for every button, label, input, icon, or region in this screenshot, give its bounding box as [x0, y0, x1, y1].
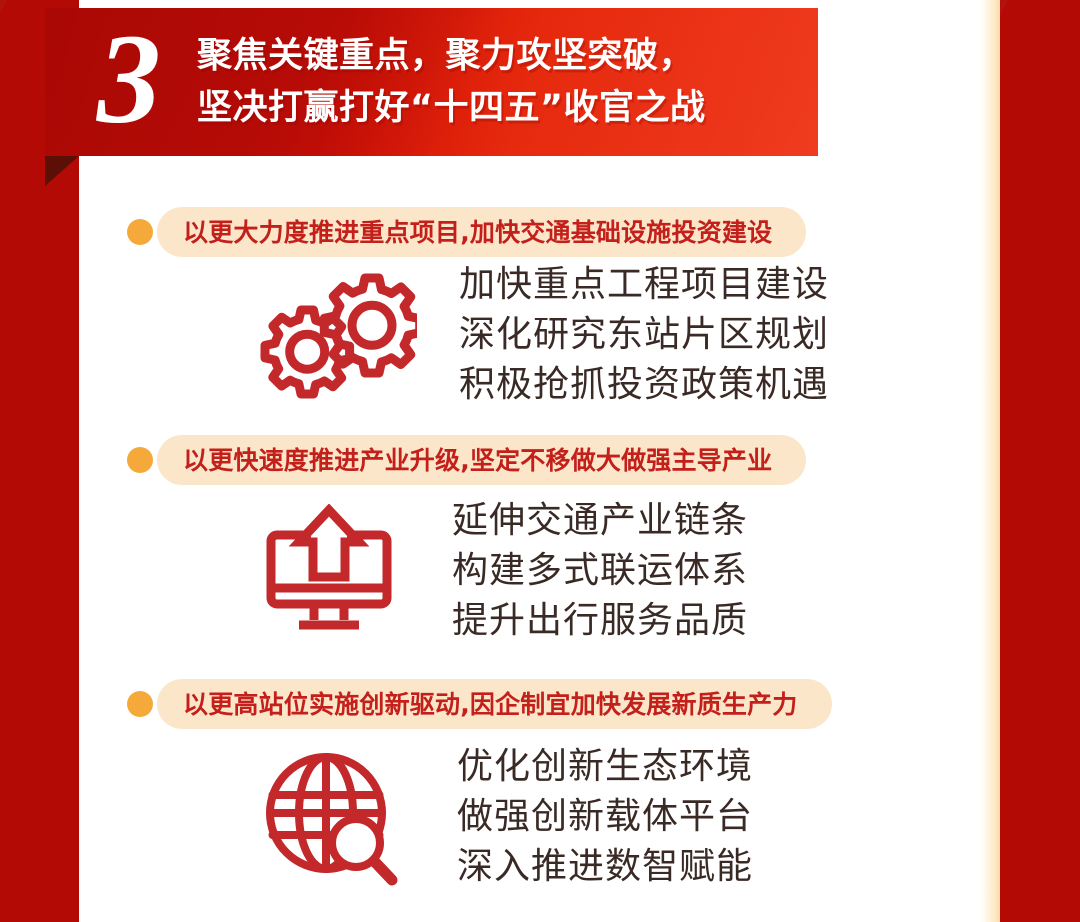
- section-heading-1: 以更大力度推进重点项目,加快交通基础设施投资建设: [127, 207, 806, 257]
- section-number: 3: [97, 15, 159, 143]
- heading-pill-text-2: 以更快速度推进产业升级,坚定不移做大做强主导产业: [183, 448, 772, 473]
- banner-title-group: 聚焦关键重点，聚力攻坚突破， 坚决打赢打好“十四五”收官之战: [197, 30, 706, 134]
- heading-pill-text-1: 以更大力度推进重点项目,加快交通基础设施投资建设: [183, 220, 772, 245]
- body-line: 提升出行服务品质: [452, 596, 748, 646]
- section-lines-3: 优化创新生态环境 做强创新载体平台 深入推进数智赋能: [457, 742, 753, 892]
- heading-pill-3: 以更高站位实施创新驱动,因企制宜加快发展新质生产力: [157, 679, 832, 729]
- heading-pill-1: 以更大力度推进重点项目,加快交通基础设施投资建设: [157, 207, 806, 257]
- bullet-dot-icon: [127, 447, 153, 473]
- section-body-3: 优化创新生态环境 做强创新载体平台 深入推进数智赋能: [264, 742, 753, 892]
- infographic-page: 3 聚焦关键重点，聚力攻坚突破， 坚决打赢打好“十四五”收官之战 以更大力度推进…: [0, 0, 1080, 922]
- section-lines-2: 延伸交通产业链条 构建多式联运体系 提升出行服务品质: [452, 496, 748, 646]
- heading-pill-text-3: 以更高站位实施创新驱动,因企制宜加快发展新质生产力: [183, 692, 798, 717]
- body-line: 延伸交通产业链条: [452, 496, 748, 546]
- monitor-upload-icon: [264, 504, 394, 639]
- body-line: 加快重点工程项目建设: [459, 260, 829, 310]
- body-line: 深入推进数智赋能: [457, 842, 753, 892]
- content-column: 以更大力度推进重点项目,加快交通基础设施投资建设 加快重点工程项目建设: [79, 156, 985, 922]
- right-red-band: [1000, 0, 1080, 922]
- section-heading-3: 以更高站位实施创新驱动,因企制宜加快发展新质生产力: [127, 679, 832, 729]
- gears-icon: [257, 270, 417, 400]
- banner-title-line-2: 坚决打赢打好“十四五”收官之战: [197, 82, 706, 134]
- body-line: 积极抢抓投资政策机遇: [459, 360, 829, 410]
- body-line: 优化创新生态环境: [457, 742, 753, 792]
- section-heading-2: 以更快速度推进产业升级,坚定不移做大做强主导产业: [127, 435, 806, 485]
- banner-fold-corner: [45, 156, 79, 186]
- body-line: 做强创新载体平台: [457, 792, 753, 842]
- bullet-dot-icon: [127, 219, 153, 245]
- section-body-1: 加快重点工程项目建设 深化研究东站片区规划 积极抢抓投资政策机遇: [257, 260, 829, 410]
- section-lines-1: 加快重点工程项目建设 深化研究东站片区规划 积极抢抓投资政策机遇: [459, 260, 829, 410]
- section-body-2: 延伸交通产业链条 构建多式联运体系 提升出行服务品质: [264, 496, 748, 646]
- body-line: 构建多式联运体系: [452, 546, 748, 596]
- heading-pill-2: 以更快速度推进产业升级,坚定不移做大做强主导产业: [157, 435, 806, 485]
- globe-search-icon: [264, 747, 399, 887]
- banner-title-line-1: 聚焦关键重点，聚力攻坚突破，: [197, 30, 706, 82]
- body-line: 深化研究东站片区规划: [459, 310, 829, 360]
- bullet-dot-icon: [127, 691, 153, 717]
- header-banner: 3 聚焦关键重点，聚力攻坚突破， 坚决打赢打好“十四五”收官之战: [45, 8, 818, 156]
